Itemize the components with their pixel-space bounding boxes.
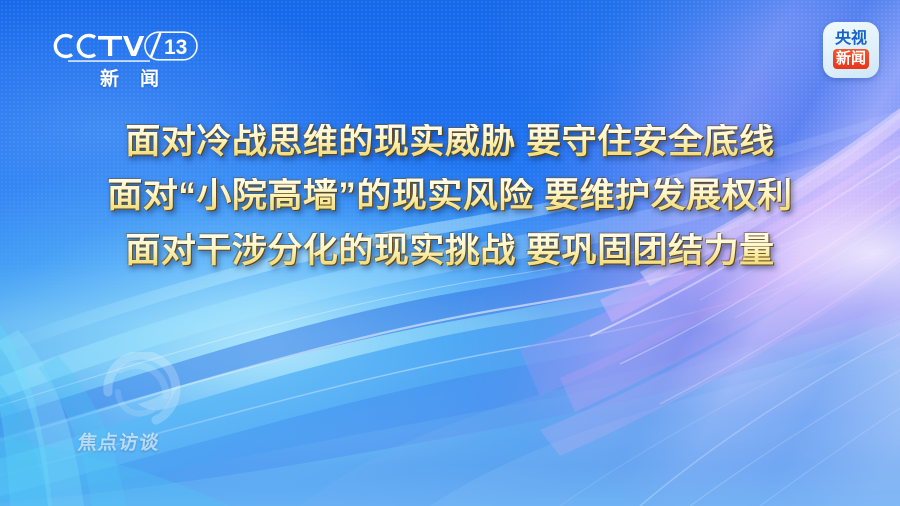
cctv-13-logo: 13 新 闻 — [48, 29, 208, 97]
program-watermark: 焦点访谈 — [72, 352, 242, 460]
cctv-subtitle-char-1: 新 — [100, 64, 120, 91]
cctv-13-wordmark-icon: 13 — [48, 29, 200, 63]
headline-block: 面对冷战思维的现实威胁 要守住安全底线 面对“小院高墙”的现实风险 要维护发展权… — [0, 124, 900, 269]
cctv-wordmark-row: 13 — [48, 29, 208, 63]
badge-bottom-text: 新闻 — [833, 49, 869, 69]
cctv-subtitle: 新 闻 — [48, 64, 208, 91]
svg-text:13: 13 — [164, 36, 187, 59]
program-watermark-text: 焦点访谈 — [76, 428, 161, 455]
headline-line-3: 面对干涉分化的现实挑战 要巩固团结力量 — [125, 233, 774, 269]
jiaodian-fangtan-mark-icon — [94, 352, 190, 432]
yangshi-xinwen-badge: 央视 新闻 — [823, 22, 879, 78]
headline-line-2: 面对“小院高墙”的现实风险 要维护发展权利 — [107, 178, 792, 214]
broadcast-slate-screen: 13 新 闻 央视 新闻 面对冷战思维的现实威胁 要守住安全底线 面对“小院高墙… — [0, 0, 900, 506]
cctv-subtitle-char-2: 闻 — [140, 64, 160, 91]
headline-line-1: 面对冷战思维的现实威胁 要守住安全底线 — [125, 124, 774, 160]
badge-top-text: 央视 — [835, 31, 867, 47]
